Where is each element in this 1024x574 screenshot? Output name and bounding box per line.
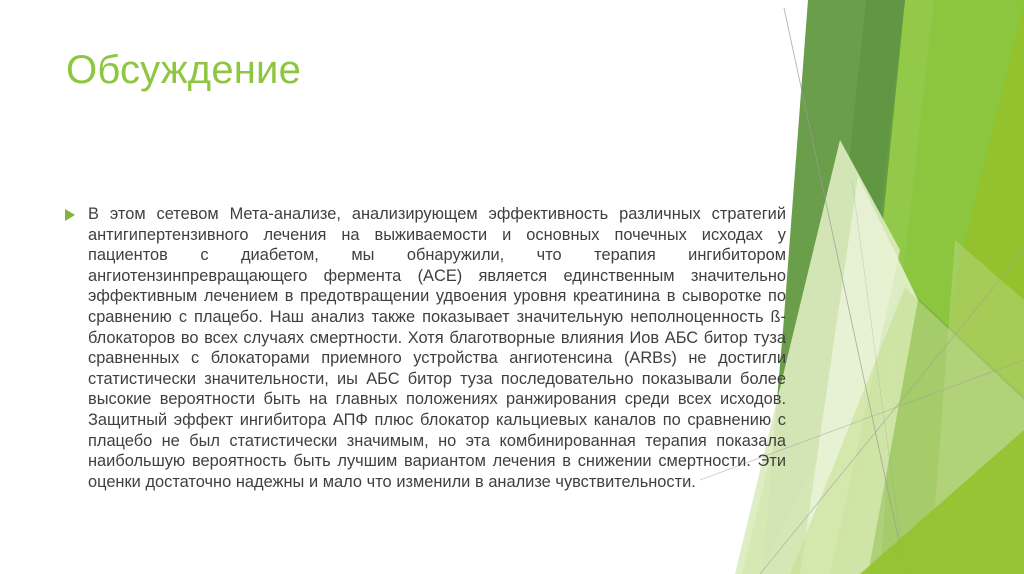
decor-shape-yellowgreen-right — [905, 0, 1024, 574]
bullet-triangle-icon — [62, 204, 88, 221]
bullet-list-item: В этом сетевом Мета-анализе, анализирующ… — [62, 204, 786, 492]
decor-hairline-2 — [760, 250, 1024, 574]
decor-hairline-4 — [852, 180, 905, 574]
decor-shape-dark-overlap — [840, 0, 905, 330]
decor-shape-light-wedge — [930, 240, 1024, 574]
decor-shape-light-sheet — [790, 288, 1024, 574]
slide-canvas: Обсуждение В этом сетевом Мета-анализе, … — [0, 0, 1024, 574]
bullet-paragraph-text: В этом сетевом Мета-анализе, анализирующ… — [88, 204, 786, 492]
decor-shape-bottom-accent — [860, 430, 1024, 574]
decor-shape-verypale-band — [800, 176, 918, 574]
title-block: Обсуждение — [66, 46, 726, 94]
decor-shape-midgreen-band — [760, 286, 1024, 574]
decor-hairline-1 — [784, 8, 906, 574]
slide-title: Обсуждение — [66, 46, 726, 94]
decor-shape-bright-right — [880, 0, 1024, 574]
body-content: В этом сетевом Мета-анализе, анализирующ… — [62, 204, 786, 492]
